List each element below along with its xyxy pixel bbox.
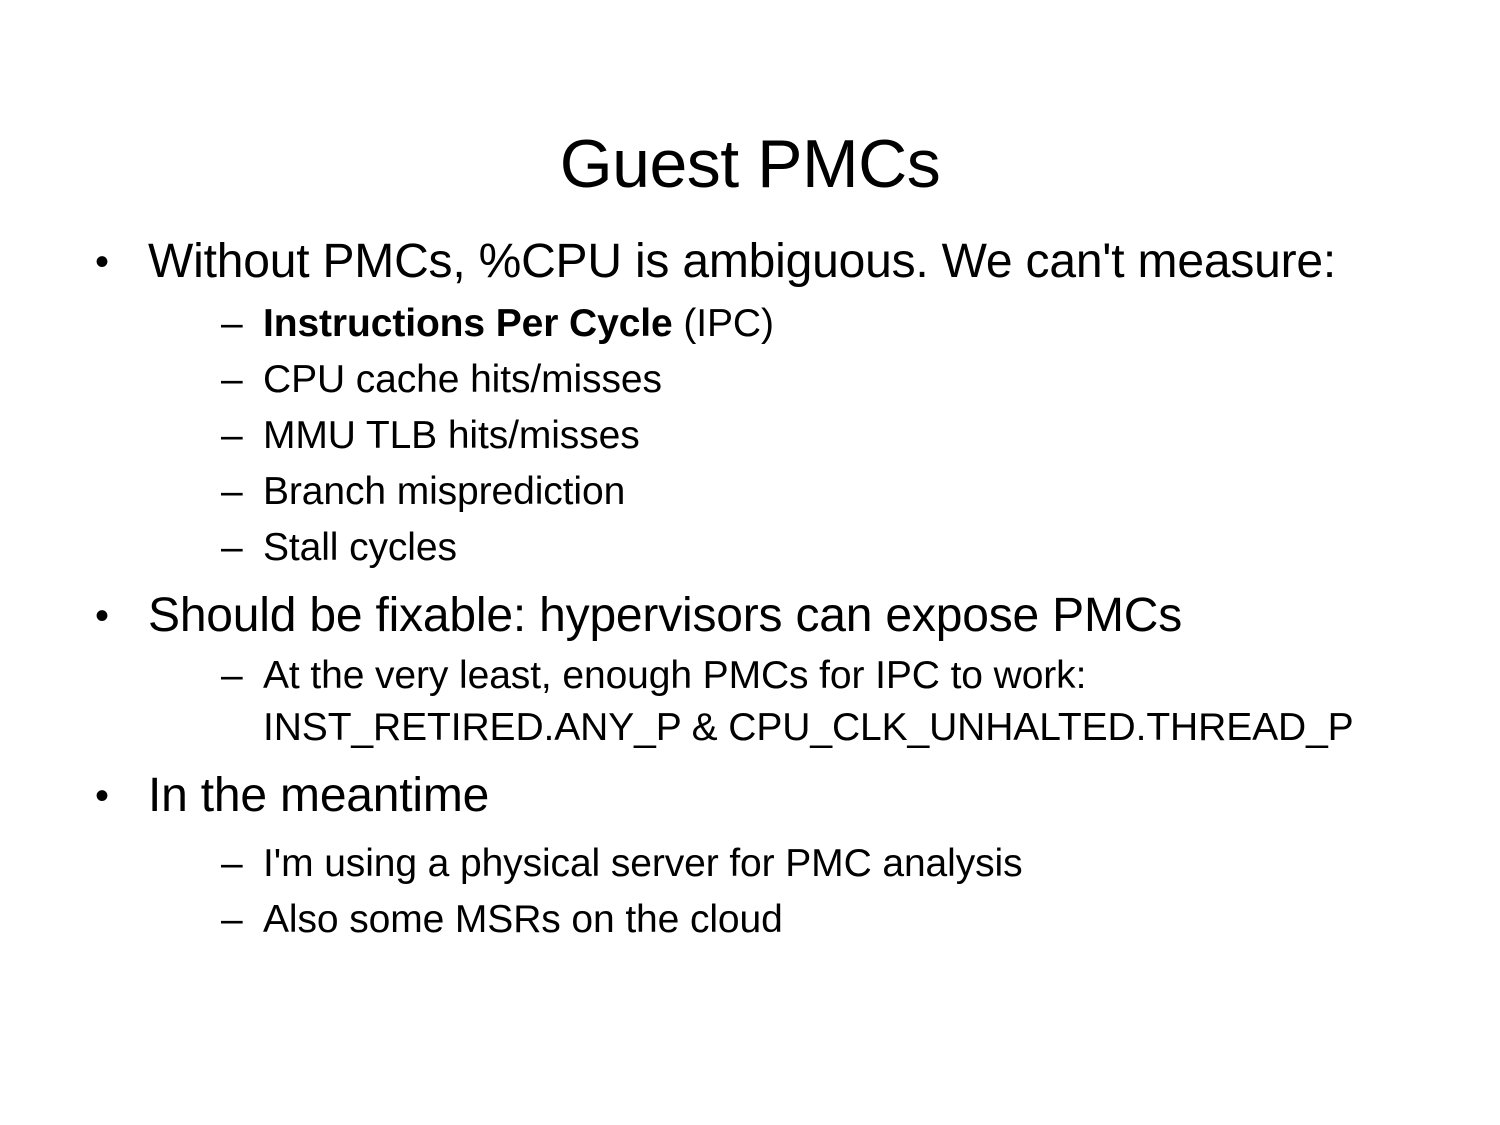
list-item: – Also some MSRs on the cloud [148, 892, 1420, 948]
bullet-list-level2: – Instructions Per Cycle (IPC) – CPU cac… [148, 296, 1420, 576]
list-item: – CPU cache hits/misses [148, 352, 1420, 408]
bullet-dash-icon: – [221, 296, 255, 352]
bullet-dot-icon: • [95, 766, 117, 826]
bullet-dash-icon: – [221, 408, 255, 464]
bullet-list-level2: – At the very least, enough PMCs for IPC… [148, 650, 1420, 754]
list-item: – At the very least, enough PMCs for IPC… [148, 650, 1420, 754]
bullet-list-level2: – I'm using a physical server for PMC an… [148, 836, 1420, 948]
list-item: – I'm using a physical server for PMC an… [148, 836, 1420, 892]
list-item-label: At the very least, enough PMCs for IPC t… [263, 650, 1420, 754]
bullet-dash-icon: – [221, 836, 255, 892]
list-item-label: In the meantime [148, 766, 1420, 826]
bullet-dash-icon: – [221, 650, 255, 702]
list-item: – Stall cycles [148, 520, 1420, 576]
list-item-label-regular: (IPC) [673, 302, 774, 345]
slide-body: • Without PMCs, %CPU is ambiguous. We ca… [90, 232, 1420, 958]
list-item: • Without PMCs, %CPU is ambiguous. We ca… [90, 232, 1420, 576]
list-item-label: I'm using a physical server for PMC anal… [263, 836, 1420, 892]
list-item-label-bold: Instructions Per Cycle [263, 302, 673, 345]
list-item: • In the meantime – I'm using a physical… [90, 766, 1420, 948]
list-item: – MMU TLB hits/misses [148, 408, 1420, 464]
bullet-dash-icon: – [221, 520, 255, 576]
bullet-dash-icon: – [221, 464, 255, 520]
list-item-label: Stall cycles [263, 520, 1420, 576]
list-item-label: Without PMCs, %CPU is ambiguous. We can'… [148, 232, 1420, 292]
list-item-label-line2: INST_RETIRED.ANY_P & CPU_CLK_UNHALTED.TH… [263, 706, 1354, 749]
bullet-dot-icon: • [95, 586, 117, 646]
list-item: • Should be fixable: hypervisors can exp… [90, 586, 1420, 754]
list-item-label: Also some MSRs on the cloud [263, 892, 1420, 948]
list-item-label: Should be fixable: hypervisors can expos… [148, 586, 1420, 646]
page-title: Guest PMCs [0, 124, 1500, 204]
list-item-label: CPU cache hits/misses [263, 352, 1420, 408]
bullet-list-level1: • Without PMCs, %CPU is ambiguous. We ca… [90, 232, 1420, 948]
list-item-label: Instructions Per Cycle (IPC) [263, 296, 1420, 352]
bullet-dash-icon: – [221, 892, 255, 948]
slide: Guest PMCs • Without PMCs, %CPU is ambig… [0, 0, 1500, 1125]
list-item-label-line1: At the very least, enough PMCs for IPC t… [263, 654, 1086, 697]
bullet-dash-icon: – [221, 352, 255, 408]
list-item: – Instructions Per Cycle (IPC) [148, 296, 1420, 352]
list-item-label: MMU TLB hits/misses [263, 408, 1420, 464]
bullet-dot-icon: • [95, 232, 117, 292]
list-item: – Branch misprediction [148, 464, 1420, 520]
list-item-label: Branch misprediction [263, 464, 1420, 520]
